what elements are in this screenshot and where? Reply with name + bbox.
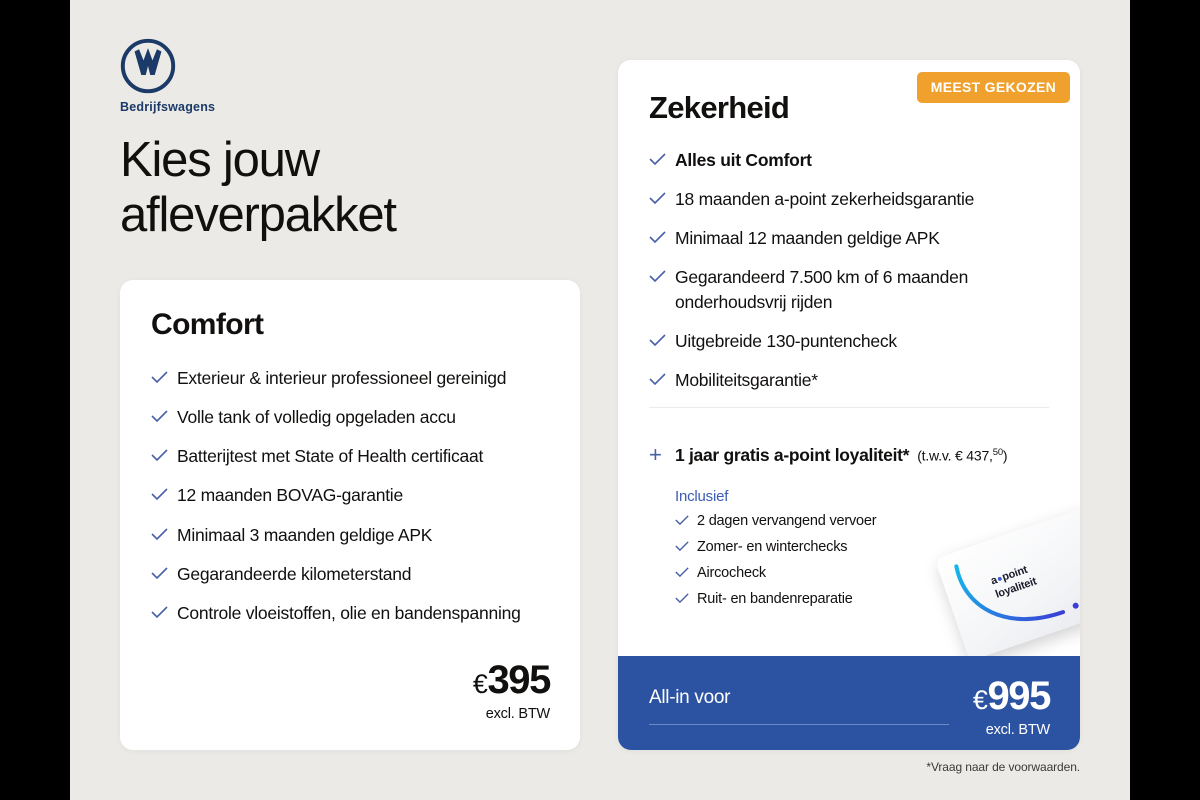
list-item: 2 dagen vervangend vervoer [675,512,975,530]
comfort-price: €395 [473,660,550,700]
page-title: Kies jouw afleverpakket [120,133,590,243]
loyalty-addon-title: 1 jaar gratis a-point loyaliteit* [675,445,909,466]
check-icon [151,444,177,466]
comfort-price-block: €395 excl. BTW [473,660,550,722]
check-icon [649,148,675,170]
zekerheid-card-title: Zekerheid [649,90,789,126]
feature-text: Minimaal 3 maanden geldige APK [177,523,432,547]
feature-text: 18 maanden a-point zekerheidsgarantie [675,187,974,211]
list-item: Alles uit Comfort [649,148,1057,172]
section-divider [649,407,1049,408]
list-item: Gegarandeerd 7.500 km of 6 maanden onder… [649,265,1057,313]
package-card-comfort[interactable]: Comfort Exterieur & interieur profession… [120,280,580,750]
list-item: Zomer- en winterchecks [675,538,975,556]
plus-icon: + [649,444,675,466]
currency-symbol: € [473,669,488,699]
list-item: Ruit- en bandenreparatie [675,590,975,608]
footer-rule [649,724,949,725]
list-item: Exterieur & interieur professioneel gere… [151,366,551,390]
list-item: Uitgebreide 130-puntencheck [649,329,1057,353]
check-icon [151,601,177,623]
list-item: Mobiliteitsgarantie* [649,368,1057,392]
check-icon [675,512,697,530]
brand-subtitle: Bedrijfswagens [120,100,320,114]
check-icon [649,368,675,390]
list-item: Batterijtest met State of Health certifi… [151,444,551,468]
status-badge: MEEST GEKOZEN [917,72,1070,103]
zekerheid-price-block: €995 excl. BTW [973,676,1050,738]
feature-text: Minimaal 12 maanden geldige APK [675,226,940,250]
feature-text: 12 maanden BOVAG-garantie [177,483,403,507]
price-amount: 995 [987,674,1050,718]
zekerheid-feature-list: Alles uit Comfort 18 maanden a-point zek… [649,148,1057,407]
list-item: Minimaal 12 maanden geldige APK [649,226,1057,250]
check-icon [649,187,675,209]
check-icon [151,366,177,388]
feature-text: Uitgebreide 130-puntencheck [675,329,897,353]
check-icon [675,564,697,582]
comfort-price-note: excl. BTW [473,706,550,722]
included-text: Zomer- en winterchecks [697,539,847,555]
feature-text: Controle vloeistoffen, olie en bandenspa… [177,601,521,625]
list-item: 12 maanden BOVAG-garantie [151,483,551,507]
check-icon [151,562,177,584]
vw-logo-icon [120,38,320,94]
included-text: Ruit- en bandenreparatie [697,591,853,607]
feature-text: Gegarandeerd 7.500 km of 6 maanden onder… [675,265,1057,313]
package-card-zekerheid[interactable]: MEEST GEKOZEN Zekerheid Alles uit Comfor… [618,60,1080,750]
list-item: Minimaal 3 maanden geldige APK [151,523,551,547]
price-amount: 395 [487,658,550,702]
check-icon [649,265,675,287]
feature-text: Exterieur & interieur professioneel gere… [177,366,506,390]
currency-symbol: € [973,685,988,715]
check-icon [649,226,675,248]
zekerheid-price: €995 [973,676,1050,716]
feature-text: Batterijtest met State of Health certifi… [177,444,483,468]
check-icon [675,590,697,608]
screenshot-stage: Bedrijfswagens Kies jouw afleverpakket C… [0,0,1200,800]
feature-text: Volle tank of volledig opgeladen accu [177,405,456,429]
check-icon [675,538,697,556]
loyalty-addon-row: + 1 jaar gratis a-point loyaliteit* (t.w… [649,443,1059,466]
zekerheid-price-footer: All-in voor €995 excl. BTW [618,656,1080,750]
list-item: Aircocheck [675,564,975,582]
check-icon [151,523,177,545]
page-canvas: Bedrijfswagens Kies jouw afleverpakket C… [70,0,1130,800]
footer-label: All-in voor [649,687,730,709]
feature-text: Alles uit Comfort [675,148,812,172]
comfort-feature-list: Exterieur & interieur professioneel gere… [151,366,551,640]
zekerheid-price-note: excl. BTW [973,722,1050,738]
brand-block: Bedrijfswagens [120,38,320,114]
list-item: 18 maanden a-point zekerheidsgarantie [649,187,1057,211]
check-icon [649,329,675,351]
included-list: 2 dagen vervangend vervoer Zomer- en win… [675,512,975,616]
check-icon [151,405,177,427]
feature-text: Mobiliteitsgarantie* [675,368,818,392]
loyalty-addon-value: (t.w.v. € 437,50) [917,447,1007,464]
list-item: Volle tank of volledig opgeladen accu [151,405,551,429]
included-label: Inclusief [675,488,728,505]
footnote: *Vraag naar de voorwaarden. [926,760,1080,774]
list-item: Gegarandeerde kilometerstand [151,562,551,586]
list-item: Controle vloeistoffen, olie en bandenspa… [151,601,551,625]
check-icon [151,483,177,505]
feature-text: Gegarandeerde kilometerstand [177,562,411,586]
comfort-card-title: Comfort [151,308,263,342]
included-text: Aircocheck [697,565,766,581]
included-text: 2 dagen vervangend vervoer [697,513,876,529]
